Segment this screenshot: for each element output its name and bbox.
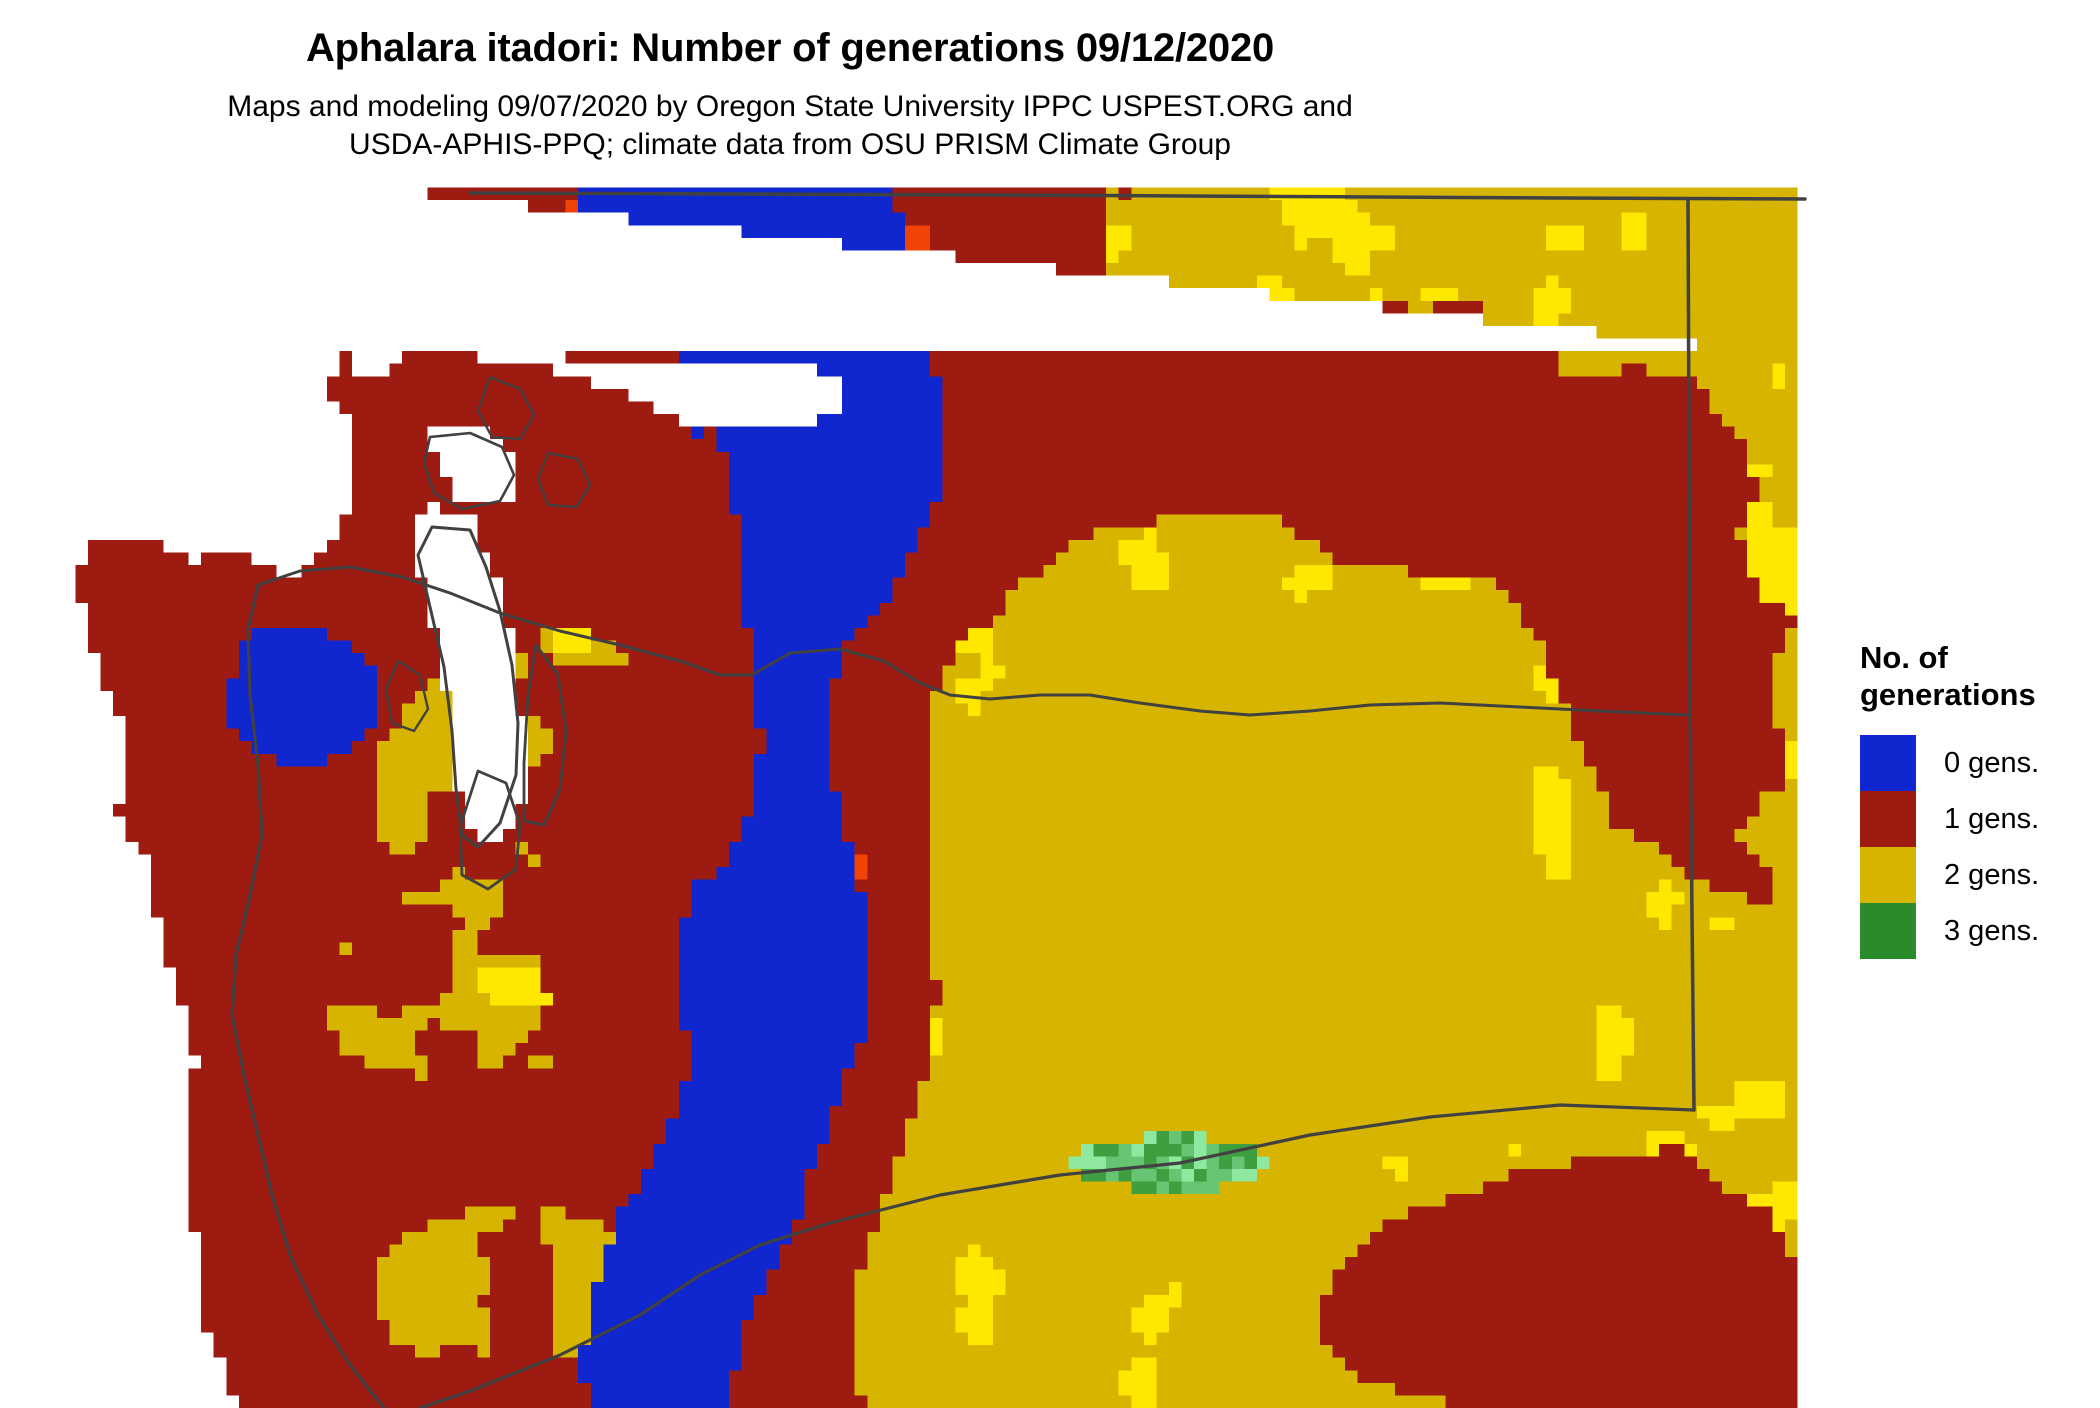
legend-item-2[interactable]: 2 gens. xyxy=(1860,847,2090,903)
legend-item-1[interactable]: 1 gens. xyxy=(1860,791,2090,847)
legend-swatch-0 xyxy=(1860,735,1916,791)
legend-swatch-1 xyxy=(1860,791,1916,847)
legend-label-3: 3 gens. xyxy=(1944,915,2039,948)
generations-raster xyxy=(0,175,1810,1408)
page-title: Aphalara itadori: Number of generations … xyxy=(0,26,1580,70)
raster-canvas xyxy=(0,175,1810,1408)
legend-swatch-3 xyxy=(1860,903,1916,959)
map-panel[interactable] xyxy=(0,175,1810,1408)
legend-label-2: 2 gens. xyxy=(1944,859,2039,892)
legend-label-0: 0 gens. xyxy=(1944,747,2039,780)
page-subtitle: Maps and modeling 09/07/2020 by Oregon S… xyxy=(0,88,1580,165)
map-page: Aphalara itadori: Number of generations … xyxy=(0,0,2100,1408)
legend-item-3[interactable]: 3 gens. xyxy=(1860,903,2090,959)
legend-item-0[interactable]: 0 gens. xyxy=(1860,735,2090,791)
legend: No. of generations 0 gens.1 gens.2 gens.… xyxy=(1860,640,2090,959)
legend-swatch-2 xyxy=(1860,847,1916,903)
legend-label-1: 1 gens. xyxy=(1944,803,2039,836)
subtitle-line-1: Maps and modeling 09/07/2020 by Oregon S… xyxy=(0,88,1580,126)
header: Aphalara itadori: Number of generations … xyxy=(0,0,1580,165)
legend-rows: 0 gens.1 gens.2 gens.3 gens. xyxy=(1860,735,2090,959)
legend-title: No. of generations xyxy=(1860,640,2090,713)
subtitle-line-2: USDA-APHIS-PPQ; climate data from OSU PR… xyxy=(0,126,1580,164)
